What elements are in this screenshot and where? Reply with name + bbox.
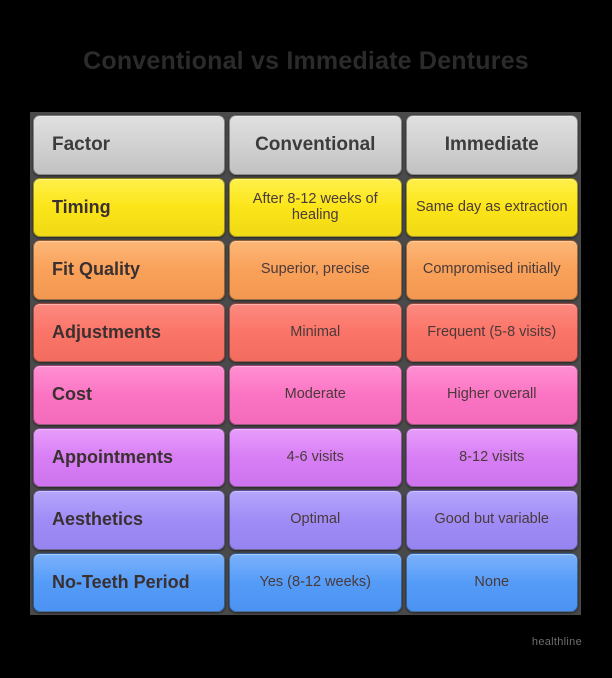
column-header-immediate: Immediate	[406, 115, 579, 175]
column-header-factor: Factor	[33, 115, 225, 175]
row-label-adjustments: Adjustments	[33, 303, 225, 363]
table-header-row: Factor Conventional Immediate	[33, 115, 578, 175]
table-row: No-Teeth Period Yes (8-12 weeks) None	[33, 553, 578, 613]
table-row: Appointments 4-6 visits 8-12 visits	[33, 428, 578, 488]
cell-aesthetics-conventional: Optimal	[229, 490, 402, 550]
row-label-appointments: Appointments	[33, 428, 225, 488]
cell-timing-immediate: Same day as extraction	[406, 178, 579, 238]
cell-cost-immediate: Higher overall	[406, 365, 579, 425]
comparison-table: Factor Conventional Immediate Timing Aft…	[30, 112, 581, 615]
cell-cost-conventional: Moderate	[229, 365, 402, 425]
row-label-timing: Timing	[33, 178, 225, 238]
column-header-conventional: Conventional	[229, 115, 402, 175]
table-row: Timing After 8-12 weeks of healing Same …	[33, 178, 578, 238]
cell-no-teeth-period-conventional: Yes (8-12 weeks)	[229, 553, 402, 613]
page-title: Conventional vs Immediate Dentures	[77, 46, 535, 78]
row-label-aesthetics: Aesthetics	[33, 490, 225, 550]
table-row: Adjustments Minimal Frequent (5-8 visits…	[33, 303, 578, 363]
cell-appointments-conventional: 4-6 visits	[229, 428, 402, 488]
cell-adjustments-immediate: Frequent (5-8 visits)	[406, 303, 579, 363]
cell-no-teeth-period-immediate: None	[406, 553, 579, 613]
table-row: Aesthetics Optimal Good but variable	[33, 490, 578, 550]
cell-timing-conventional: After 8-12 weeks of healing	[229, 178, 402, 238]
row-label-fit-quality: Fit Quality	[33, 240, 225, 300]
cell-appointments-immediate: 8-12 visits	[406, 428, 579, 488]
row-label-no-teeth-period: No-Teeth Period	[33, 553, 225, 613]
cell-aesthetics-immediate: Good but variable	[406, 490, 579, 550]
footer-watermark: healthline	[532, 636, 582, 648]
cell-adjustments-conventional: Minimal	[229, 303, 402, 363]
row-label-cost: Cost	[33, 365, 225, 425]
table-row: Cost Moderate Higher overall	[33, 365, 578, 425]
table-row: Fit Quality Superior, precise Compromise…	[33, 240, 578, 300]
cell-fit-quality-immediate: Compromised initially	[406, 240, 579, 300]
title-bar: Conventional vs Immediate Dentures	[0, 46, 612, 78]
cell-fit-quality-conventional: Superior, precise	[229, 240, 402, 300]
